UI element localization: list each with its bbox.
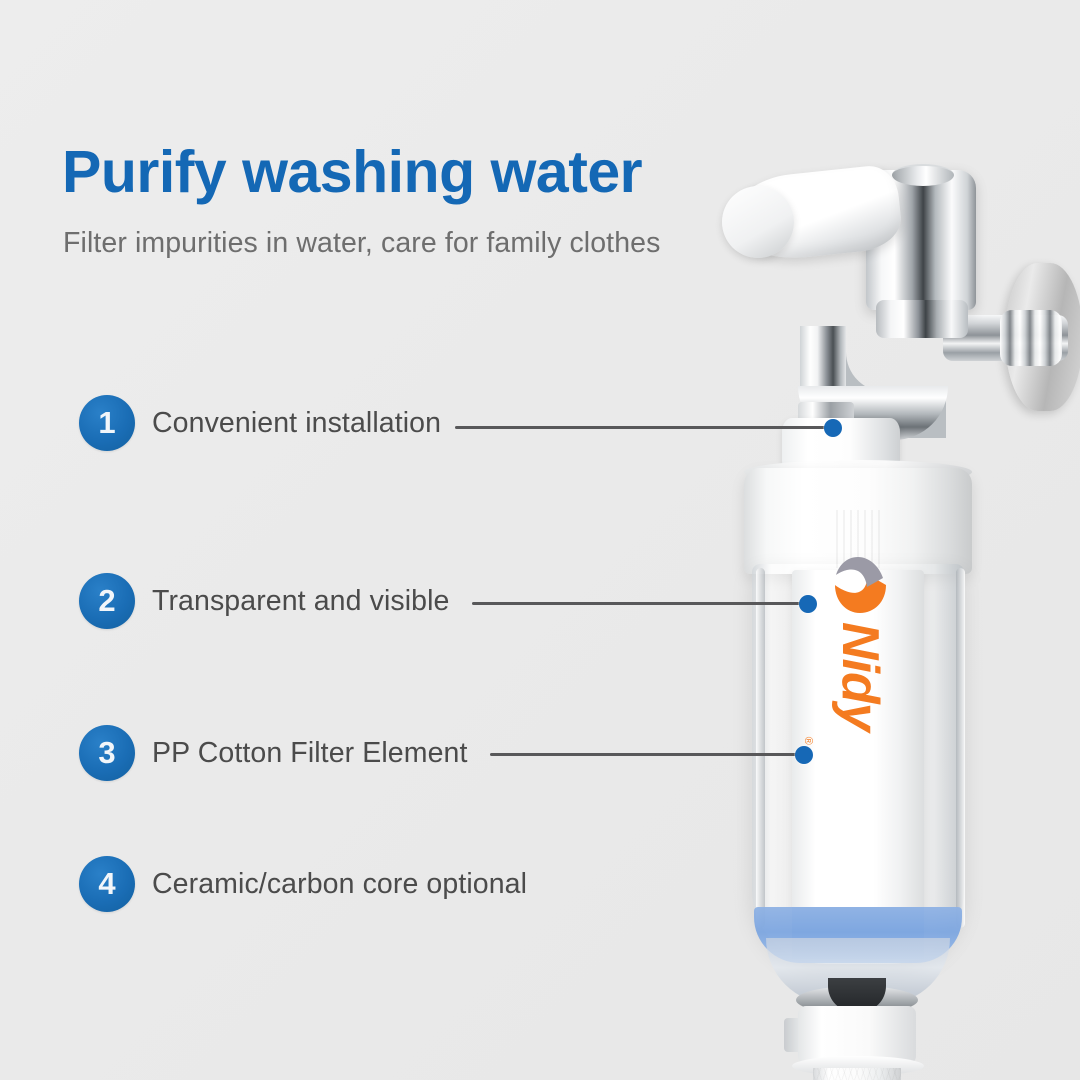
brand-droplet-icon: [831, 554, 889, 616]
feature-badge-1: 1: [79, 395, 135, 451]
feature-item-3[interactable]: 3 PP Cotton Filter Element: [79, 725, 468, 781]
page-title: Purify washing water: [62, 138, 642, 206]
leader-line-1: [455, 426, 833, 429]
hose-weave-texture: [813, 1068, 901, 1080]
faucet-inlet-rings: [1000, 310, 1062, 366]
feature-label-3: PP Cotton Filter Element: [152, 737, 468, 770]
leader-dot-1: [824, 419, 842, 437]
infographic-canvas: Purify washing water Filter impurities i…: [0, 0, 1080, 1080]
housing-edge-right: [956, 568, 965, 928]
feature-label-4: Ceramic/carbon core optional: [152, 868, 527, 901]
page-subtitle: Filter impurities in water, care for fam…: [63, 227, 660, 260]
product-illustration: Nidy ®: [700, 150, 1080, 1080]
feature-badge-4: 4: [79, 856, 135, 912]
housing-edge-left: [756, 568, 765, 928]
faucet-handle-knob: [722, 186, 794, 258]
feature-item-2[interactable]: 2 Transparent and visible: [79, 573, 450, 629]
leader-line-2: [472, 602, 809, 605]
brand-trademark-symbol: ®: [802, 737, 814, 745]
brand-logo: Nidy ®: [796, 554, 924, 754]
leader-line-3: [490, 753, 805, 756]
feature-badge-2: 2: [79, 573, 135, 629]
feature-label-1: Convenient installation: [152, 407, 441, 440]
feature-badge-3: 3: [79, 725, 135, 781]
feature-label-2: Transparent and visible: [152, 585, 450, 618]
faucet-valve-cap: [892, 164, 954, 186]
feature-item-4[interactable]: 4 Ceramic/carbon core optional: [79, 856, 527, 912]
leader-dot-2: [799, 595, 817, 613]
brand-name: Nidy: [834, 622, 886, 731]
feature-item-1[interactable]: 1 Convenient installation: [79, 395, 441, 451]
leader-dot-3: [795, 746, 813, 764]
